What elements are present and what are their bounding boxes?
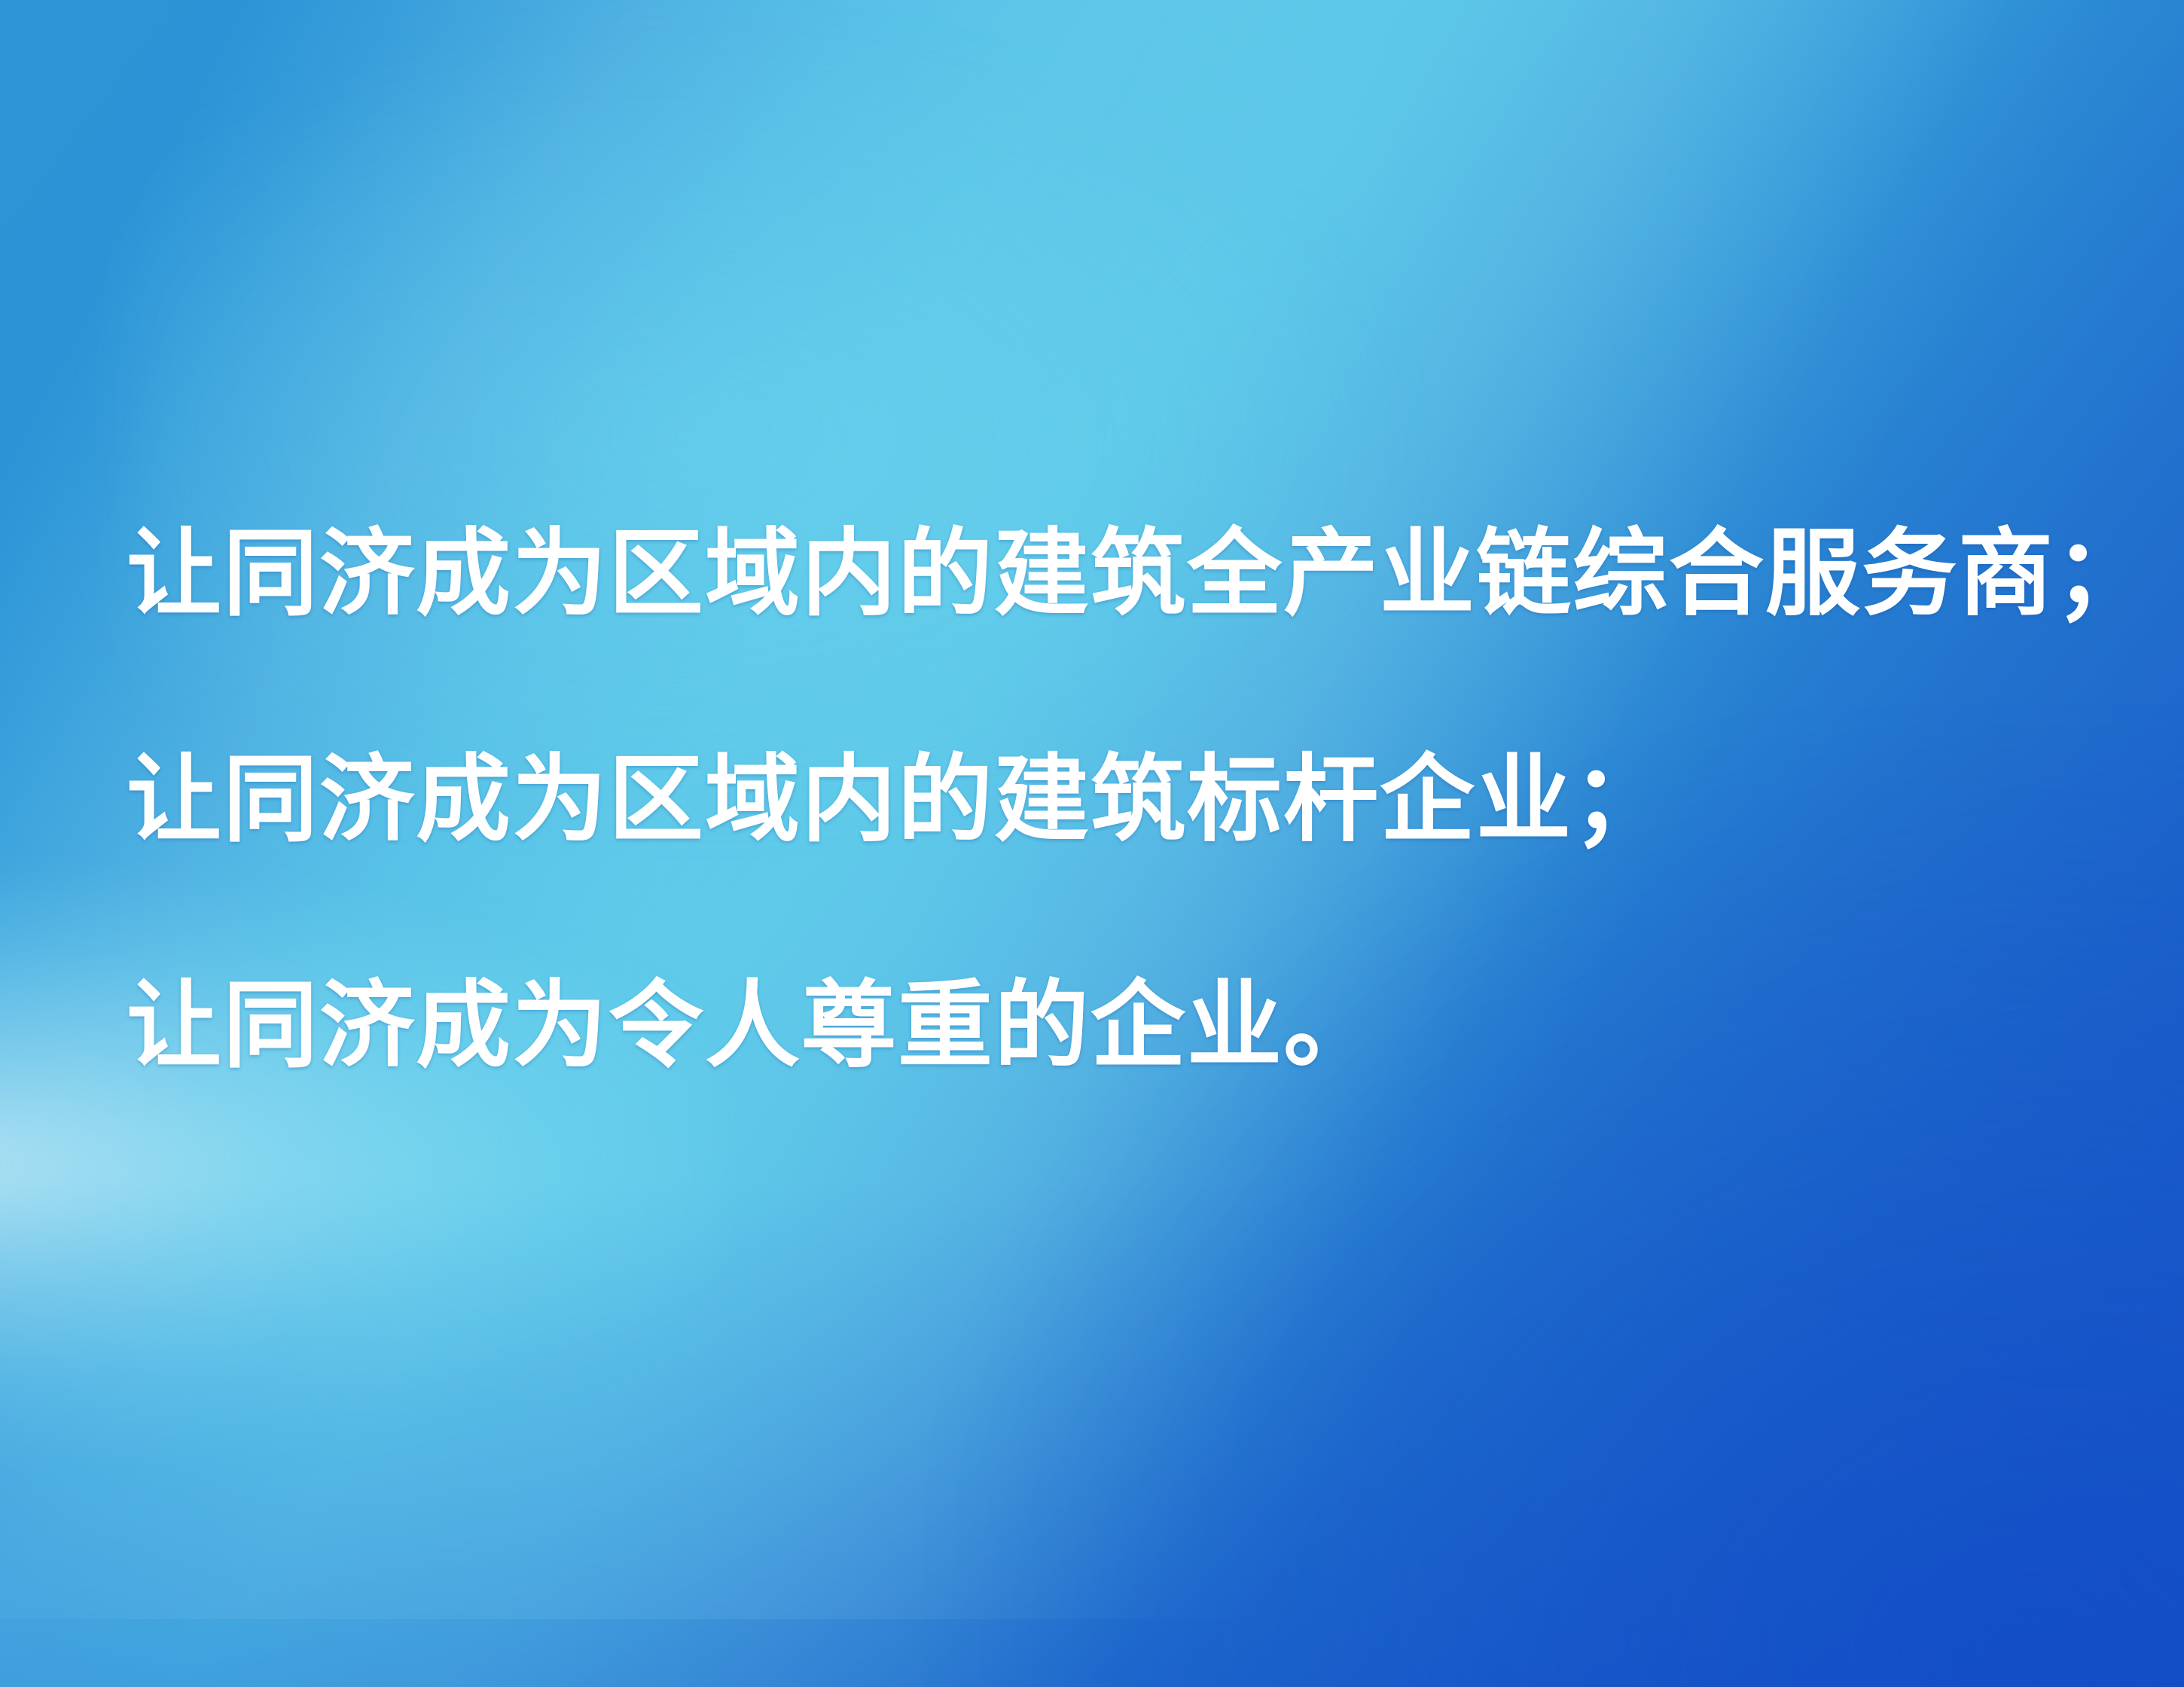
slide-body-text: 让同济成为区域内的建筑全产业链综合服务商； 让同济成为区域内的建筑标杆企业； 让… xyxy=(127,461,2115,1139)
slide-text-line-2: 让同济成为区域内的建筑标杆企业； xyxy=(127,687,2115,913)
slide-text-line-1: 让同济成为区域内的建筑全产业链综合服务商； xyxy=(127,461,2115,687)
slide-text-line-3: 让同济成为令人尊重的企业。 xyxy=(127,913,2115,1139)
presentation-slide: 让同济成为区域内的建筑全产业链综合服务商； 让同济成为区域内的建筑标杆企业； 让… xyxy=(0,0,2184,1687)
